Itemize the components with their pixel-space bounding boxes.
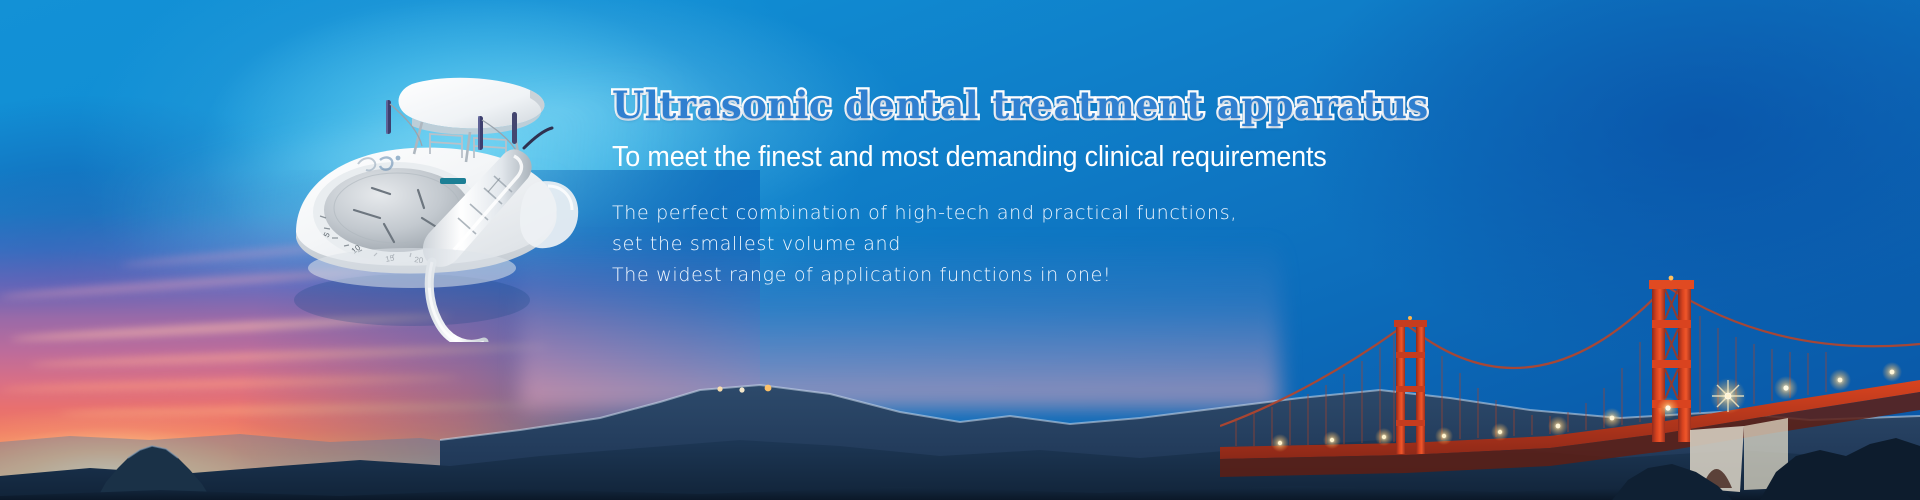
tip-holder-canopy[interactable]	[399, 78, 545, 129]
indicator-strip	[440, 178, 466, 184]
summit-light	[717, 386, 722, 391]
body-line-2: set the smallest volume and	[612, 229, 1372, 260]
product-hero-banner: 5 10 15 20	[0, 0, 1920, 500]
water-reservoir	[520, 181, 578, 248]
banner-headline: Ultrasonic dental treatment apparatus	[612, 84, 1372, 126]
summit-light	[739, 387, 744, 392]
summit-light	[765, 385, 772, 392]
tower-aviation-light	[1408, 316, 1412, 320]
device-base-foot	[308, 248, 516, 288]
banner-copy-block: Ultrasonic dental treatment apparatus To…	[612, 84, 1372, 291]
tower-aviation-light	[1669, 276, 1674, 281]
banner-subheading: To meet the finest and most demanding cl…	[612, 140, 1319, 174]
banner-body-text: The perfect combination of high-tech and…	[612, 198, 1372, 291]
product-image-ultrasonic-scaler: 5 10 15 20	[262, 42, 592, 342]
body-line-1: The perfect combination of high-tech and…	[612, 198, 1372, 229]
device-svg: 5 10 15 20	[262, 42, 592, 342]
bridge-tower-far	[1394, 320, 1427, 454]
body-line-3: The widest range of application function…	[612, 260, 1372, 291]
handpiece-working-tip	[524, 128, 552, 148]
